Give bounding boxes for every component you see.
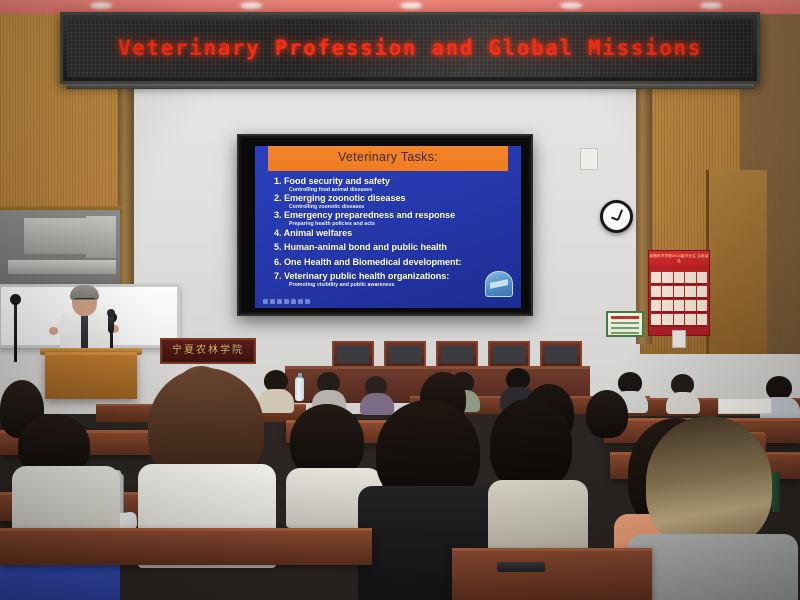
ceiling-light	[90, 2, 112, 9]
front-chair	[332, 341, 374, 368]
graduation-poster: 动物科学学院2024届毕业生 合影留念	[648, 250, 710, 336]
poster-photo	[662, 286, 672, 299]
laptop	[497, 562, 545, 572]
bullet-text: Animal welfares	[284, 228, 353, 238]
presentation-slide: Veterinary Tasks: 1. Food security and s…	[255, 146, 521, 308]
led-banner: Veterinary Profession and Global Mission…	[60, 12, 760, 84]
bench-row-front	[0, 528, 372, 565]
duct-pipe	[8, 260, 116, 274]
poster-photo	[651, 314, 661, 327]
slide-subbullet: Preparing health policies and acts	[289, 221, 515, 228]
person-hair	[646, 416, 772, 548]
bullet-text: Emergency preparedness and response	[284, 210, 455, 220]
slide-icon	[270, 299, 275, 304]
eyeglasses-icon	[74, 298, 95, 304]
side-door	[706, 170, 767, 354]
audience-member	[666, 374, 700, 412]
poster-photo	[674, 286, 684, 299]
notice-line	[611, 332, 639, 334]
presenter-hand-left	[49, 327, 58, 335]
slide-control-icons	[263, 299, 310, 304]
front-chair	[488, 341, 530, 368]
slide-icon	[284, 299, 289, 304]
ceiling-light	[700, 2, 722, 9]
slide-bullet: 3. Emergency preparedness and response	[274, 210, 515, 221]
audience-member	[18, 414, 114, 534]
bullet-number: 6.	[274, 257, 281, 267]
poster-photo	[674, 272, 684, 285]
slide-icon	[305, 299, 310, 304]
led-banner-shelf	[66, 84, 754, 89]
slide-bullet: 1. Food security and safety	[274, 176, 515, 187]
front-chair	[436, 341, 478, 368]
poster-photo	[651, 300, 661, 313]
bullet-text: Emerging zoonotic diseases	[284, 193, 406, 203]
poster-header-text: 动物科学学院2024届毕业生 合影留念	[649, 251, 709, 270]
bullet-text: Food security and safety	[284, 176, 390, 186]
led-banner-text: Veterinary Profession and Global Mission…	[67, 36, 753, 60]
slide-bullet: 2. Emerging zoonotic diseases	[274, 193, 515, 204]
slide-subbullet: Promoting visibility and public awarenes…	[289, 282, 515, 289]
poster-photo	[697, 286, 707, 299]
front-chair	[540, 341, 582, 368]
bullet-number: 3.	[274, 210, 281, 220]
poster-photo	[697, 272, 707, 285]
poster-photo	[662, 300, 672, 313]
ceiling-light	[560, 2, 582, 9]
ceiling-light	[240, 2, 262, 9]
bullet-number: 1.	[274, 176, 281, 186]
notebook	[718, 398, 772, 414]
front-chair	[384, 341, 426, 368]
poster-photo-grid	[649, 270, 709, 329]
emergency-notice-sign	[606, 311, 644, 337]
poster-photo	[685, 272, 695, 285]
wall-speaker-box	[580, 148, 598, 170]
presenter-tie	[81, 315, 88, 351]
audience-member	[490, 398, 582, 538]
podium	[45, 352, 137, 399]
poster-photo	[662, 314, 672, 327]
water-bottle	[295, 377, 304, 401]
bench-row-front	[452, 548, 652, 600]
organization-logo-icon	[485, 271, 513, 297]
poster-photo	[697, 300, 707, 313]
slide-title-bar: Veterinary Tasks:	[268, 146, 508, 171]
ceiling-light	[400, 2, 422, 9]
slide-bullet: 7. Veterinary public health organization…	[274, 271, 515, 282]
poster-photo	[674, 300, 684, 313]
slide-title: Veterinary Tasks:	[268, 150, 508, 164]
poster-photo	[685, 300, 695, 313]
slide-body: 1. Food security and safety Controlling …	[274, 176, 515, 289]
poster-photo	[685, 286, 695, 299]
poster-photo	[662, 272, 672, 285]
poster-photo	[685, 314, 695, 327]
poster-photo	[651, 286, 661, 299]
bullet-number: 5.	[274, 242, 281, 252]
notice-line	[611, 327, 639, 329]
person-body	[628, 534, 798, 600]
slide-bullet: 5. Human-animal bond and public health	[274, 242, 515, 253]
notice-line	[611, 316, 639, 319]
microphone-stand	[14, 300, 17, 362]
lectern-sign-text: 宁夏农林学院	[162, 340, 254, 362]
duct-pipe	[86, 216, 116, 258]
bullet-text: One Health and Biomedical development:	[284, 257, 462, 267]
led-panel: Veterinary Profession and Global Mission…	[67, 19, 753, 77]
screen-bezel: Veterinary Tasks: 1. Food security and s…	[241, 138, 529, 312]
handheld-microphone	[108, 313, 114, 333]
poster-photo	[674, 314, 684, 327]
wall-clock-icon	[600, 200, 633, 233]
slide-bullet: 4. Animal welfares	[274, 228, 515, 239]
person-hair	[490, 398, 572, 490]
bullet-number: 4.	[274, 228, 281, 238]
notice-line	[611, 322, 639, 324]
bullet-number: 2.	[274, 193, 281, 203]
person-body	[488, 480, 588, 556]
person-hair	[290, 404, 364, 478]
slide-bullet: 6. One Health and Biomedical development…	[274, 257, 515, 268]
slide-icon	[298, 299, 303, 304]
slide-icon	[291, 299, 296, 304]
duct-pipe	[24, 218, 86, 254]
lecture-hall-photo: Veterinary Profession and Global Mission…	[0, 0, 800, 600]
poster-photo	[651, 272, 661, 285]
projection-screen: Veterinary Tasks: 1. Food security and s…	[237, 134, 533, 316]
poster-photo	[697, 314, 707, 327]
bullet-text: Human-animal bond and public health	[284, 242, 447, 252]
bullet-text: Veterinary public health organizations:	[284, 271, 449, 281]
slide-icon	[277, 299, 282, 304]
light-switch[interactable]	[672, 330, 686, 348]
person-body	[666, 392, 700, 414]
audience-member-foreground	[636, 416, 786, 600]
slide-icon	[263, 299, 268, 304]
bullet-number: 7.	[274, 271, 281, 281]
lectern-name-plate: 宁夏农林学院	[160, 338, 256, 364]
